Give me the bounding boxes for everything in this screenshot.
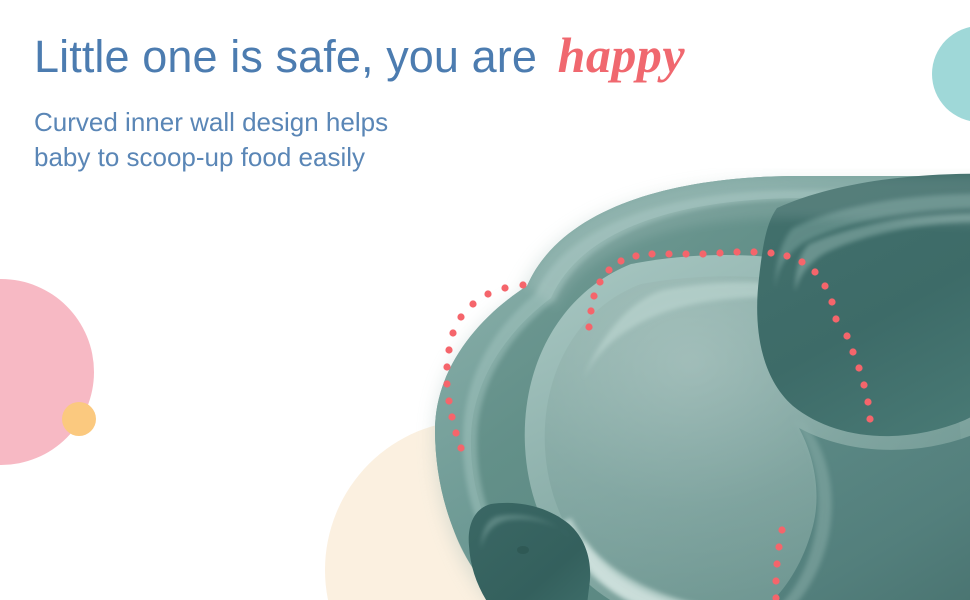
text-block: Little one is safe, you are happy Curved… [34,26,685,175]
headline-plain: Little one is safe, you are [34,31,550,82]
pink-circle [0,279,94,465]
teal-circle [932,26,970,122]
page-title: Little one is safe, you are happy [34,26,685,85]
headline-accent-word: happy [550,27,686,83]
promo-banner: Little one is safe, you are happy Curved… [0,0,970,600]
amber-dot [62,402,96,436]
subheading: Curved inner wall design helps baby to s… [34,105,685,175]
product-photo-plate [395,168,970,600]
